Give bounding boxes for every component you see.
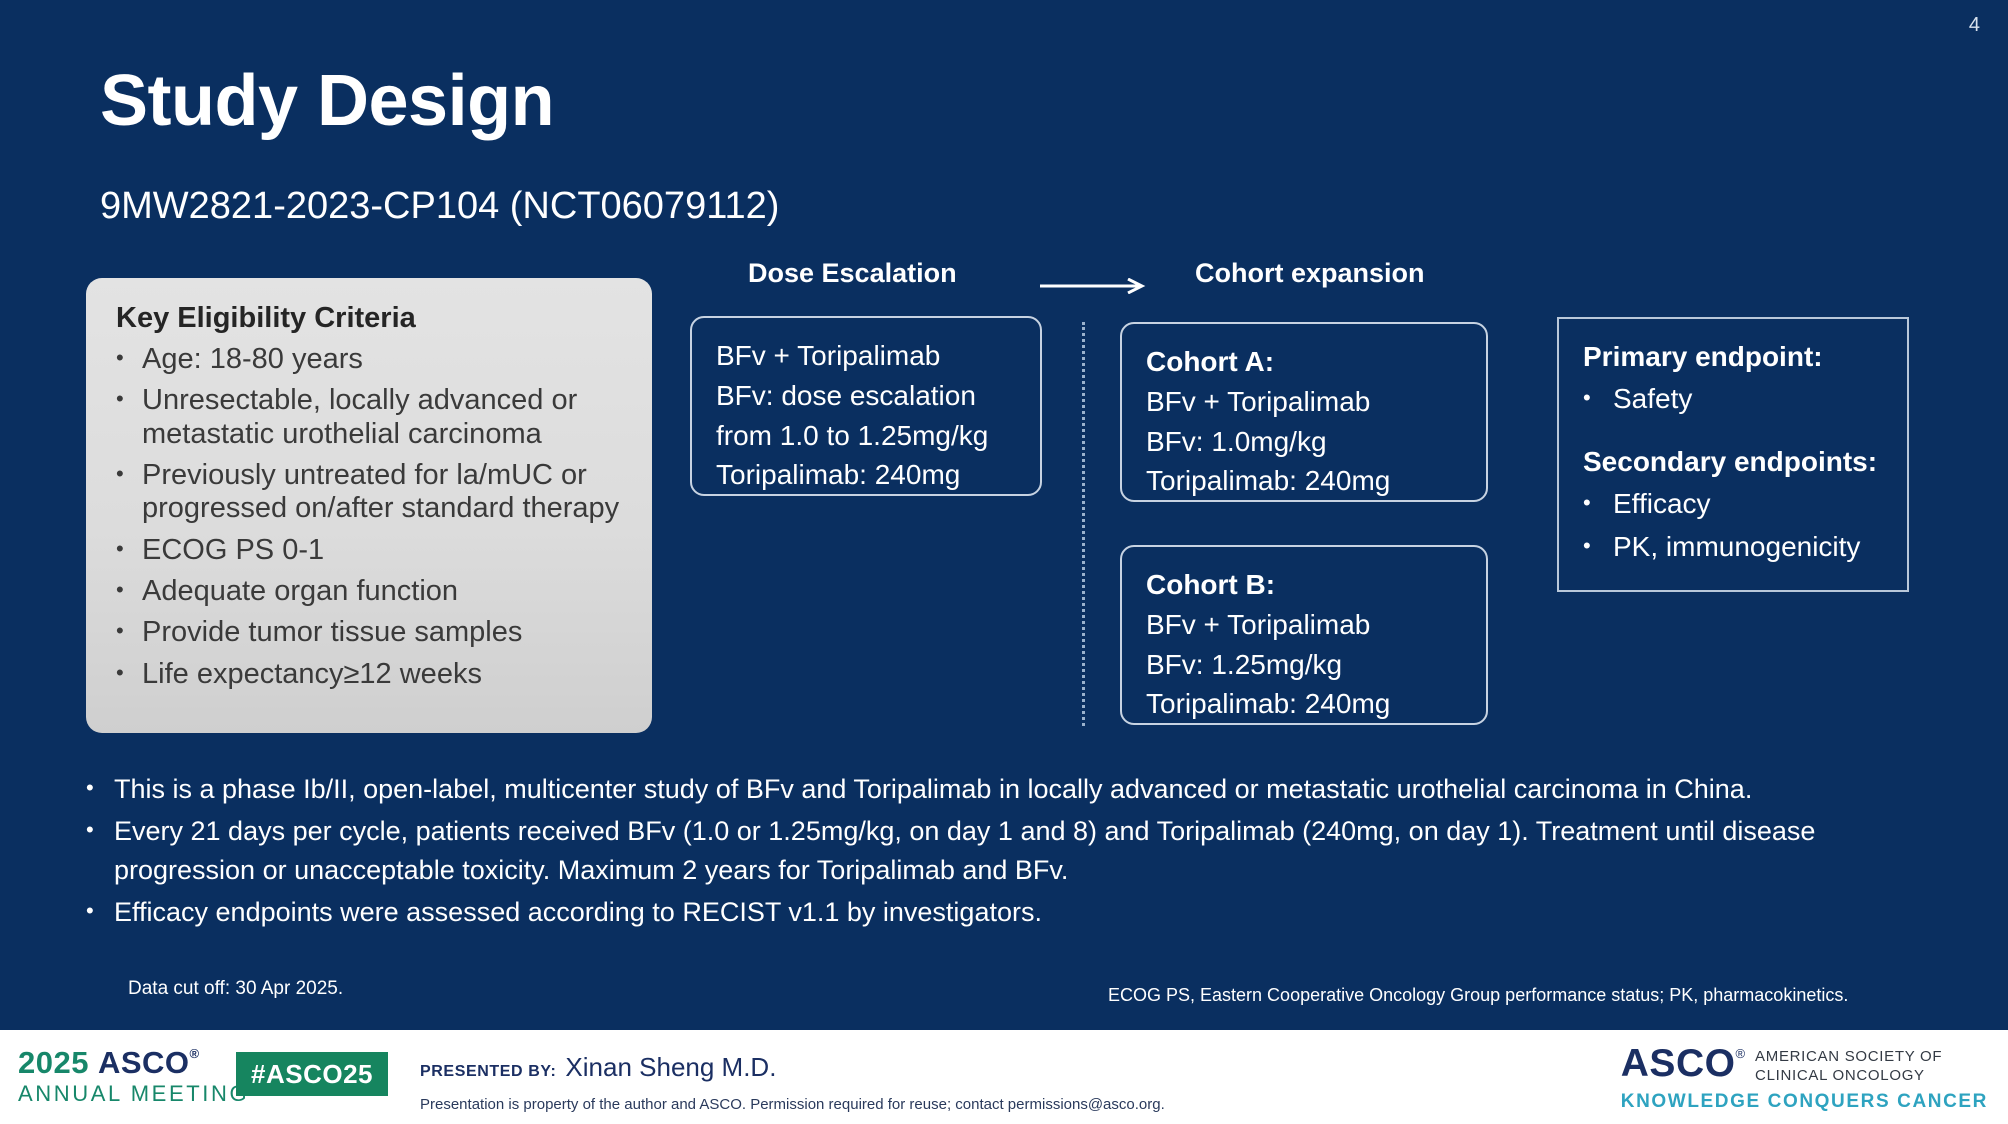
asco-brand-row: ASCO ® AMERICAN SOCIETY OF CLINICAL ONCO…	[1621, 1044, 1988, 1085]
arrow-right-icon	[1040, 278, 1150, 294]
meeting-org: ASCO	[98, 1045, 190, 1080]
eligibility-item-text: Age: 18-80 years	[142, 343, 622, 376]
bullet-icon: •	[116, 658, 142, 691]
bullet-icon: •	[1583, 529, 1613, 565]
registered-mark-icon: ®	[190, 1046, 200, 1061]
cohort-b-header: Cohort B:	[1146, 565, 1462, 605]
meeting-year: 2025	[18, 1045, 89, 1080]
page-subtitle: 9MW2821-2023-CP104 (NCT06079112)	[100, 185, 779, 228]
cohort-b-box: Cohort B: BFv + Toripalimab BFv: 1.25mg/…	[1120, 545, 1488, 725]
bullet-icon: •	[116, 384, 142, 451]
asco-brand-subtitle: AMERICAN SOCIETY OF CLINICAL ONCOLOGY	[1755, 1047, 1942, 1085]
study-notes-list: • This is a phase Ib/II, open-label, mul…	[86, 770, 1926, 935]
presenter-name: Xinan Sheng M.D.	[565, 1052, 776, 1083]
eligibility-item: • Provide tumor tissue samples	[116, 616, 622, 649]
secondary-endpoint-item: • PK, immunogenicity	[1583, 529, 1883, 565]
asco-meeting-logo-top: 2025ASCO®	[18, 1047, 249, 1078]
asco-brand-subtitle-line2: CLINICAL ONCOLOGY	[1755, 1067, 1925, 1084]
footnote-data-cutoff: Data cut off: 30 Apr 2025.	[128, 978, 343, 1000]
cohort-a-header: Cohort A:	[1146, 342, 1462, 382]
slide-canvas: 4 Study Design 9MW2821-2023-CP104 (NCT06…	[0, 0, 2008, 1124]
eligibility-item: • Previously untreated for la/mUC or pro…	[116, 459, 622, 526]
asco-brand-wordmark: ASCO	[1621, 1044, 1736, 1083]
study-note-text: Every 21 days per cycle, patients receiv…	[114, 812, 1926, 889]
dose-escalation-box: BFv + Toripalimab BFv: dose escalation f…	[690, 316, 1042, 496]
asco-brand-logo: ASCO ® AMERICAN SOCIETY OF CLINICAL ONCO…	[1621, 1044, 1988, 1113]
cohort-a-line-1: BFv + Toripalimab	[1146, 382, 1462, 422]
asco-brand-subtitle-line1: AMERICAN SOCIETY OF	[1755, 1048, 1942, 1065]
bullet-icon: •	[116, 459, 142, 526]
cohort-b-line-3: Toripalimab: 240mg	[1146, 684, 1462, 724]
asco-tagline: KNOWLEDGE CONQUERS CANCER	[1621, 1091, 1988, 1113]
bullet-icon: •	[116, 575, 142, 608]
study-note: • Every 21 days per cycle, patients rece…	[86, 812, 1926, 889]
eligibility-item: • Life expectancy≥12 weeks	[116, 658, 622, 691]
study-note-text: Efficacy endpoints were assessed accordi…	[114, 893, 1926, 931]
asco-annual-meeting-logo: 2025ASCO® ANNUAL MEETING	[18, 1047, 249, 1105]
stage-label-dose-escalation: Dose Escalation	[748, 258, 957, 289]
bullet-icon: •	[116, 616, 142, 649]
bullet-icon: •	[1583, 381, 1613, 417]
stage-header-row: Dose Escalation Cohort expansion	[690, 258, 1470, 302]
study-note-text: This is a phase Ib/II, open-label, multi…	[114, 770, 1926, 808]
secondary-endpoint-item-text: PK, immunogenicity	[1613, 529, 1860, 565]
stage-label-cohort-expansion: Cohort expansion	[1195, 258, 1425, 289]
hashtag-badge: #ASCO25	[236, 1052, 388, 1096]
primary-endpoint-header: Primary endpoint:	[1583, 339, 1883, 375]
cohort-b-line-1: BFv + Toripalimab	[1146, 605, 1462, 645]
eligibility-title: Key Eligibility Criteria	[116, 302, 622, 335]
cohort-a-box: Cohort A: BFv + Toripalimab BFv: 1.0mg/k…	[1120, 322, 1488, 502]
eligibility-item: • Age: 18-80 years	[116, 343, 622, 376]
secondary-endpoints-header: Secondary endpoints:	[1583, 444, 1883, 480]
study-note: • This is a phase Ib/II, open-label, mul…	[86, 770, 1926, 808]
dose-escalation-line-3: from 1.0 to 1.25mg/kg	[716, 416, 1016, 456]
presenter-line: PRESENTED BY: Xinan Sheng M.D.	[420, 1052, 776, 1083]
dose-escalation-line-2: BFv: dose escalation	[716, 376, 1016, 416]
presented-by-label: PRESENTED BY:	[420, 1063, 556, 1081]
eligibility-item-text: Unresectable, locally advanced or metast…	[142, 384, 622, 451]
eligibility-item-text: Life expectancy≥12 weeks	[142, 658, 622, 691]
slide-number: 4	[1969, 14, 1980, 37]
eligibility-item: • Unresectable, locally advanced or meta…	[116, 384, 622, 451]
cohort-a-line-2: BFv: 1.0mg/kg	[1146, 422, 1462, 462]
study-note: • Efficacy endpoints were assessed accor…	[86, 893, 1926, 931]
meeting-subtitle: ANNUAL MEETING	[18, 1083, 249, 1105]
footnote-abbreviations: ECOG PS, Eastern Cooperative Oncology Gr…	[1108, 985, 1848, 1006]
dose-escalation-line-4: Toripalimab: 240mg	[716, 455, 1016, 495]
bullet-icon: •	[86, 893, 114, 931]
eligibility-item-text: Provide tumor tissue samples	[142, 616, 622, 649]
primary-endpoint-item-text: Safety	[1613, 381, 1692, 417]
key-eligibility-criteria-box: Key Eligibility Criteria • Age: 18-80 ye…	[86, 278, 652, 733]
slide-footer: 2025ASCO® ANNUAL MEETING #ASCO25 PRESENT…	[0, 1030, 2008, 1124]
endpoints-box: Primary endpoint: • Safety Secondary end…	[1557, 317, 1909, 592]
eligibility-item-text: ECOG PS 0-1	[142, 534, 622, 567]
secondary-endpoint-item: • Efficacy	[1583, 486, 1883, 522]
cohort-a-line-3: Toripalimab: 240mg	[1146, 461, 1462, 501]
eligibility-item-text: Adequate organ function	[142, 575, 622, 608]
dotted-divider	[1082, 322, 1085, 726]
bullet-icon: •	[116, 343, 142, 376]
registered-mark-icon: ®	[1735, 1046, 1745, 1061]
bullet-icon: •	[86, 770, 114, 808]
primary-endpoint-item: • Safety	[1583, 381, 1883, 417]
secondary-endpoint-item-text: Efficacy	[1613, 486, 1711, 522]
bullet-icon: •	[116, 534, 142, 567]
eligibility-item: • ECOG PS 0-1	[116, 534, 622, 567]
page-title: Study Design	[100, 60, 554, 142]
eligibility-item: • Adequate organ function	[116, 575, 622, 608]
endpoints-spacer	[1583, 418, 1883, 444]
bullet-icon: •	[1583, 486, 1613, 522]
cohort-b-line-2: BFv: 1.25mg/kg	[1146, 645, 1462, 685]
dose-escalation-line-1: BFv + Toripalimab	[716, 336, 1016, 376]
eligibility-item-text: Previously untreated for la/mUC or progr…	[142, 459, 622, 526]
permission-notice: Presentation is property of the author a…	[420, 1096, 1165, 1113]
bullet-icon: •	[86, 812, 114, 889]
